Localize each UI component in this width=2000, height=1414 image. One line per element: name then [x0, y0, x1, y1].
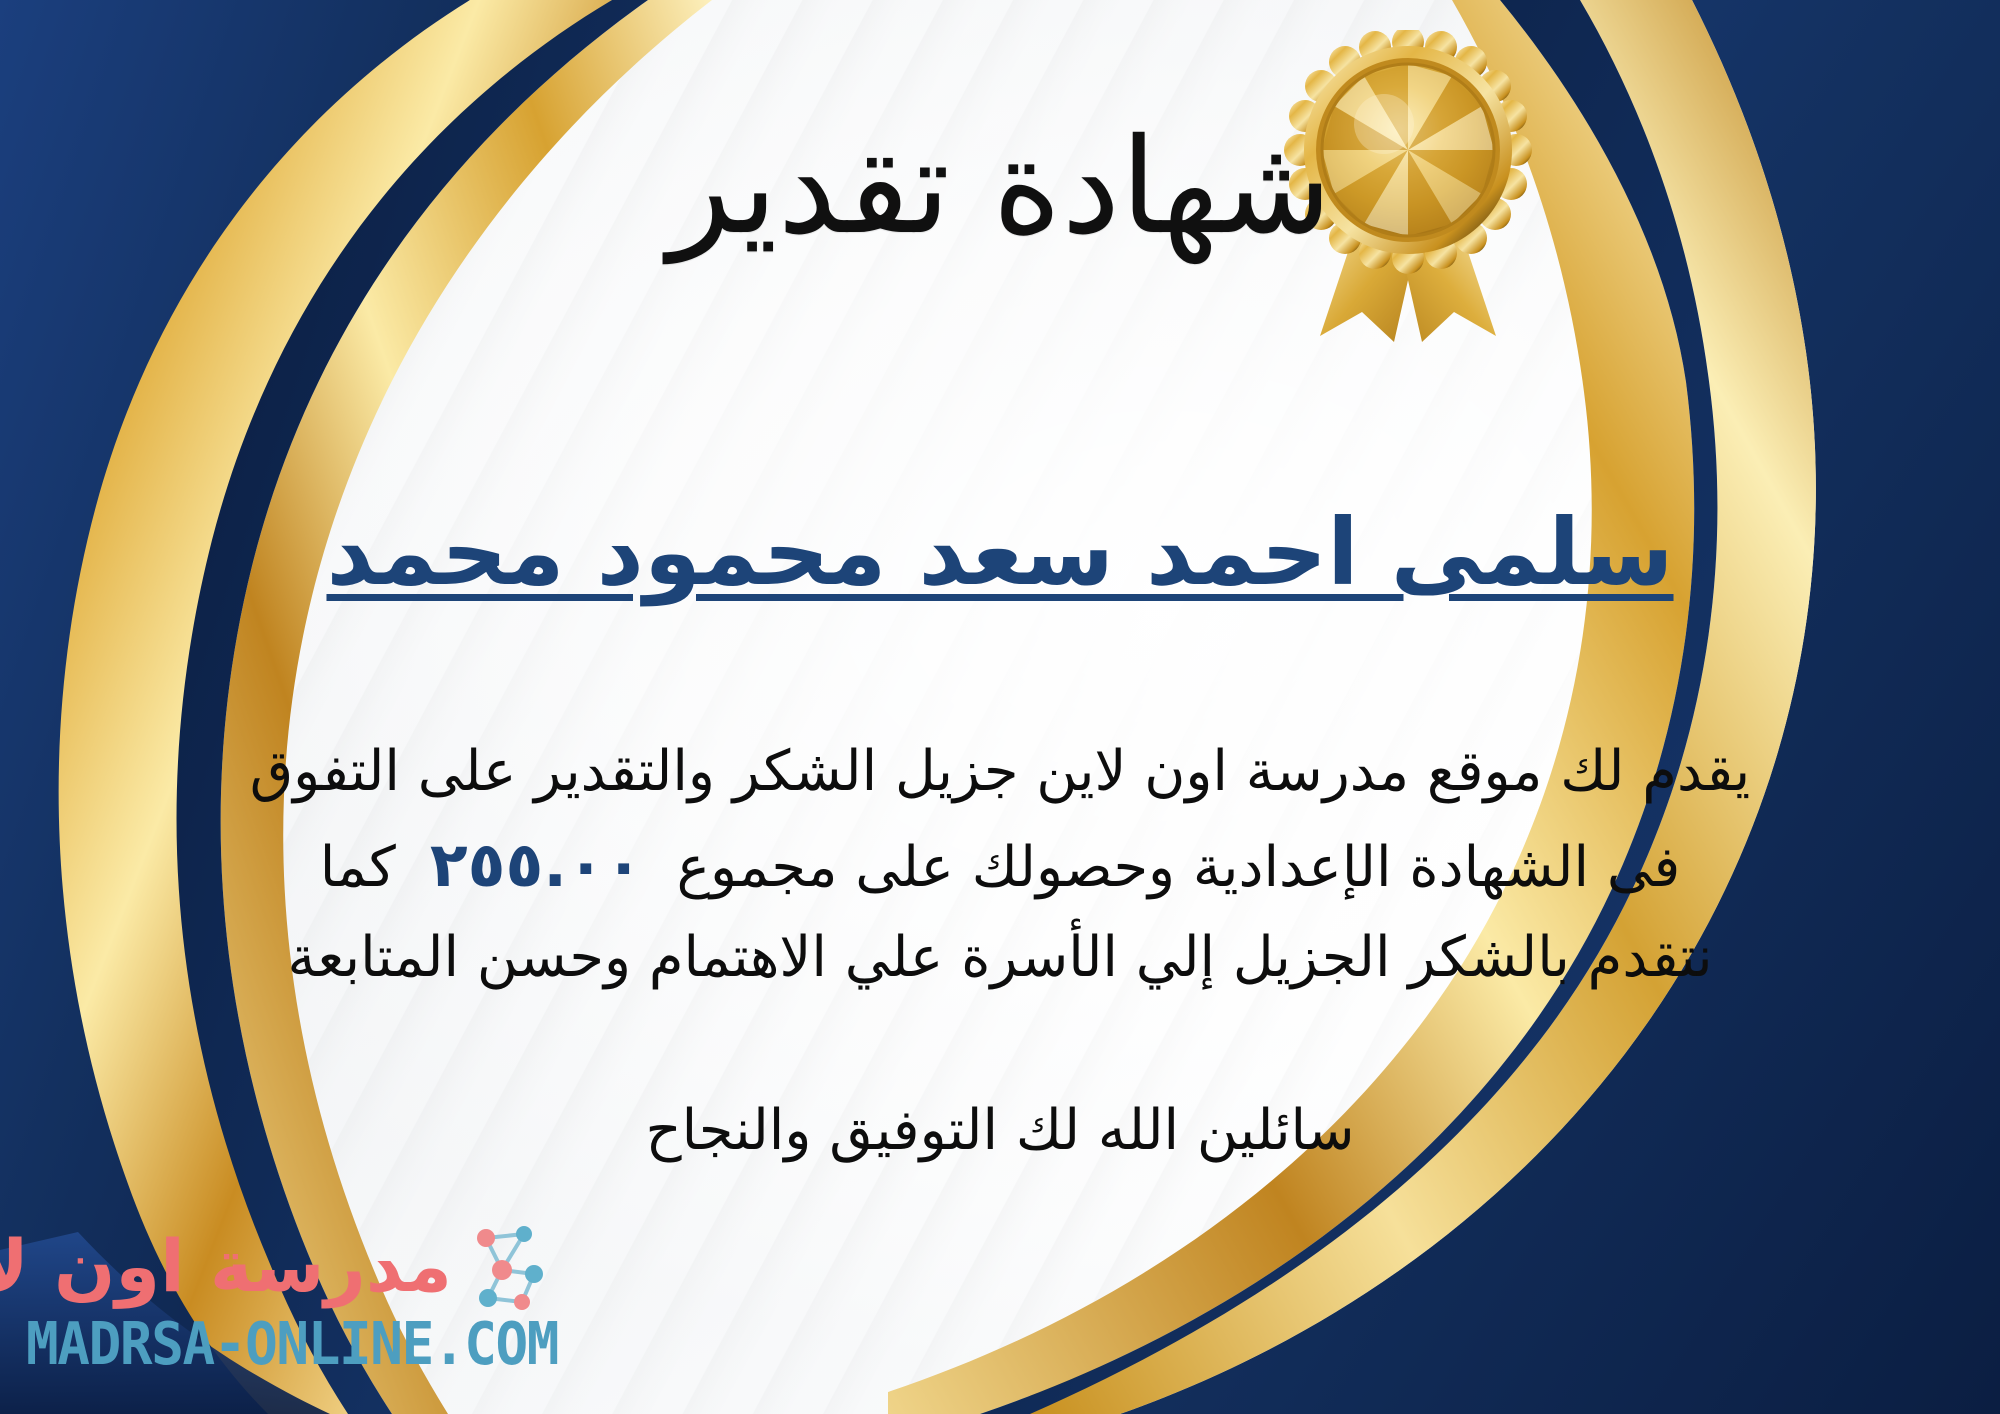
body-line-2-prefix: فى الشهادة الإعدادية وحصولك على مجموع: [677, 835, 1681, 900]
body-paragraph: يقدم لك موقع مدرسة اون لاين جزيل الشكر و…: [60, 728, 1940, 1003]
closing-line: سائلين الله لك التوفيق والنجاح: [0, 1098, 2000, 1163]
body-line-2-suffix: كما: [320, 835, 396, 900]
body-line-3: نتقدم بالشكر الجزيل إلي الأسرة علي الاهت…: [60, 914, 1940, 1002]
score-value: ٢٥٥.٠٠: [396, 828, 677, 901]
brand-logo[interactable]: مدرسة اون لاين MADRSA-ONLINE.COM: [26, 1220, 556, 1390]
certificate-content: شهادة تقدير سلمى احمد سعد محمود محمد يقد…: [0, 0, 2000, 1414]
body-line-2: فى الشهادة الإعدادية وحصولك على مجموع٢٥٥…: [60, 816, 1940, 914]
network-nodes-icon: [462, 1218, 554, 1314]
certificate-canvas: شهادة تقدير سلمى احمد سعد محمود محمد يقد…: [0, 0, 2000, 1414]
logo-top-row: مدرسة اون لاين: [26, 1220, 556, 1312]
page-title: شهادة تقدير: [0, 118, 2000, 257]
logo-url: MADRSA-ONLINE.COM: [26, 1314, 514, 1373]
body-line-1: يقدم لك موقع مدرسة اون لاين جزيل الشكر و…: [60, 728, 1940, 816]
recipient-name: سلمى احمد سعد محمود محمد: [0, 500, 2000, 606]
logo-arabic-name: مدرسة اون لاين: [0, 1230, 452, 1302]
